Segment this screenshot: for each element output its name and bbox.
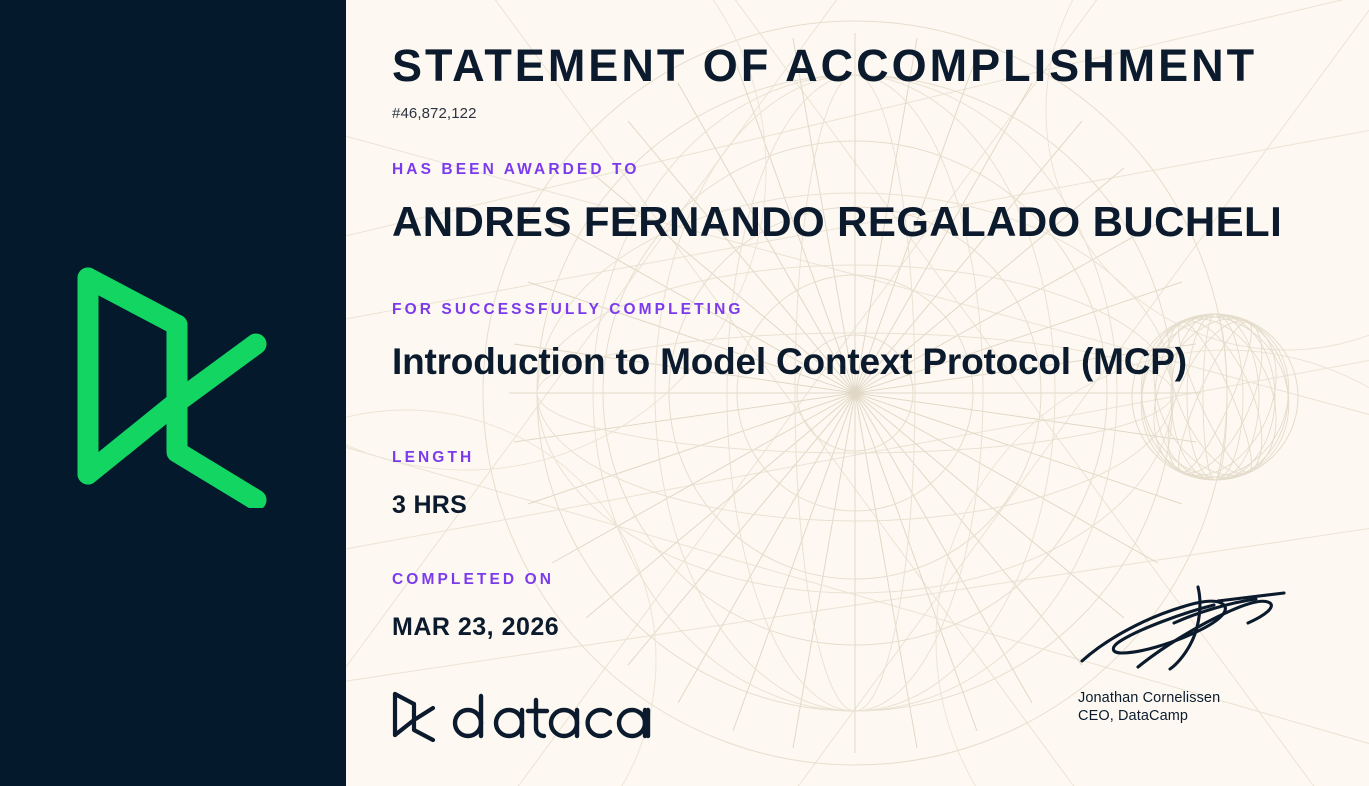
wireframe-globe-ornament xyxy=(1116,293,1314,501)
datacamp-wordmark xyxy=(452,690,666,742)
certificate-id: #46,872,122 xyxy=(392,105,477,122)
signer-name: Jonathan Cornelissen xyxy=(1078,689,1303,707)
datacamp-logo-icon xyxy=(76,262,272,508)
brand-sidebar xyxy=(0,0,346,786)
length-label: LENGTH xyxy=(392,449,474,467)
completing-label: FOR SUCCESSFULLY COMPLETING xyxy=(392,301,744,319)
certificate-page: STATEMENT OF ACCOMPLISHMENT #46,872,122 … xyxy=(0,0,1369,786)
completed-date: MAR 23, 2026 xyxy=(392,613,559,642)
signer-title: CEO, DataCamp xyxy=(1078,707,1303,725)
certificate-title: STATEMENT OF ACCOMPLISHMENT xyxy=(392,40,1257,92)
signature-icon xyxy=(1078,583,1292,679)
signature-block: Jonathan Cornelissen CEO, DataCamp xyxy=(1078,583,1303,725)
datacamp-footer-logo xyxy=(392,687,666,745)
completed-on-label: COMPLETED ON xyxy=(392,571,554,589)
datacamp-logo-icon xyxy=(392,690,438,742)
length-value: 3 HRS xyxy=(392,491,467,520)
course-title: Introduction to Model Context Protocol (… xyxy=(392,336,1232,388)
recipient-name: ANDRES FERNANDO REGALADO BUCHELI xyxy=(392,198,1282,246)
awarded-to-label: HAS BEEN AWARDED TO xyxy=(392,161,640,179)
